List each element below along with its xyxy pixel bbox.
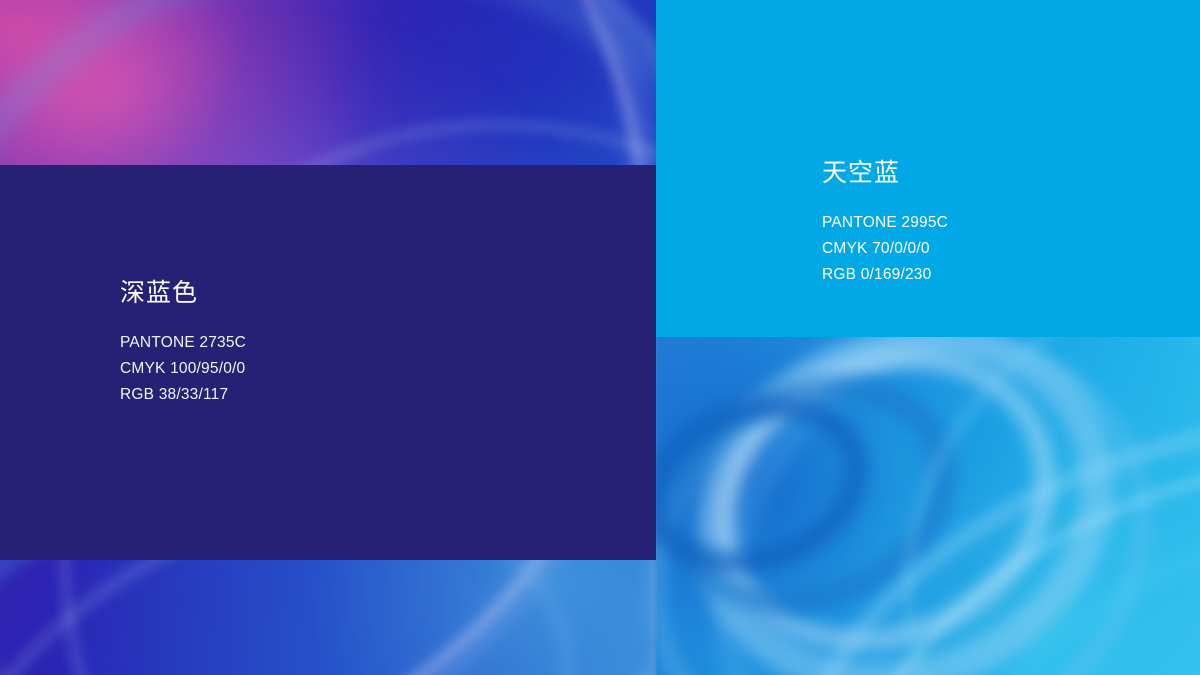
swatch-sky-blue-specs: PANTONE 2995C CMYK 70/0/0/0 RGB 0/169/23… xyxy=(822,210,948,288)
slide-canvas: 深蓝色 PANTONE 2735C CMYK 100/95/0/0 RGB 38… xyxy=(0,0,1200,675)
swatch-deep-blue-title: 深蓝色 xyxy=(120,278,246,308)
swatch-sky-blue-pantone: PANTONE 2995C xyxy=(822,210,948,236)
swatch-sky-blue-rgb: RGB 0/169/230 xyxy=(822,262,948,288)
swatch-deep-blue-pantone: PANTONE 2735C xyxy=(120,330,246,356)
swatch-deep-blue-rgb: RGB 38/33/117 xyxy=(120,382,246,408)
swatch-sky-blue-title: 天空蓝 xyxy=(822,158,948,188)
swatch-sky-blue-text: 天空蓝 PANTONE 2995C CMYK 70/0/0/0 RGB 0/16… xyxy=(822,158,948,288)
swatch-deep-blue-specs: PANTONE 2735C CMYK 100/95/0/0 RGB 38/33/… xyxy=(120,330,246,408)
color-swatch-deep-blue xyxy=(0,165,656,560)
swatch-deep-blue-text: 深蓝色 PANTONE 2735C CMYK 100/95/0/0 RGB 38… xyxy=(120,278,246,408)
swatch-deep-blue-cmyk: CMYK 100/95/0/0 xyxy=(120,356,246,382)
swatch-sky-blue-cmyk: CMYK 70/0/0/0 xyxy=(822,236,948,262)
